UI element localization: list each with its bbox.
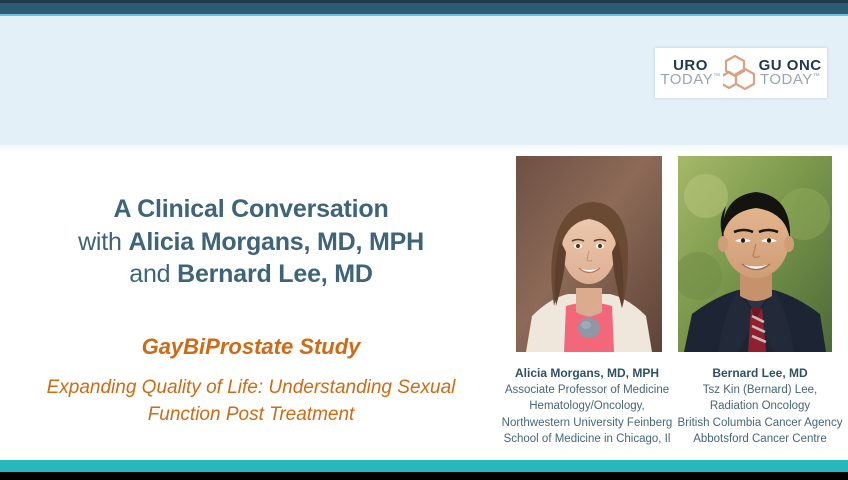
brand-logo-inner: URO TODAY™ GU ONC TODAY™ [660, 53, 821, 93]
speaker-affil-1-line-1: Associate Professor of Medicine [494, 382, 680, 398]
portrait-illustration-1 [516, 156, 662, 352]
logo-today-left-text: TODAY™ [660, 73, 720, 87]
speaker-caption-1: Alicia Morgans, MD, MPH Associate Profes… [494, 365, 680, 447]
title-line-2-prefix: with [78, 228, 128, 256]
bottom-black-bar [0, 472, 848, 480]
speaker-affil-2-line-2: Radiation Oncology [672, 398, 848, 414]
speaker-caption-2: Bernard Lee, MD Tsz Kin (Bernard) Lee, R… [672, 365, 848, 447]
title-line-1: A Clinical Conversation [8, 193, 494, 226]
logo-today-right-text: TODAY™ [760, 73, 820, 87]
speaker-affil-1-line-4: School of Medicine in Chicago, Il [494, 431, 680, 447]
speaker-photo-alicia-morgans [516, 156, 662, 352]
hexagon-icon [723, 53, 757, 93]
top-bar [0, 3, 848, 14]
study-title: GayBiProstate Study [8, 334, 494, 360]
slide-title: A Clinical Conversation with Alicia Morg… [8, 193, 494, 291]
trademark-left: ™ [713, 73, 721, 80]
logo-guonctoday: GU ONC TODAY™ [759, 59, 822, 87]
bottom-teal-bar [0, 460, 848, 472]
speaker-affil-2-line-4: Abbotsford Cancer Centre [672, 431, 848, 447]
speaker-affil-1-line-3: Northwestern University Feinberg [494, 415, 680, 431]
speaker-affil-2-line-3: British Columbia Cancer Agency [672, 415, 848, 431]
title-line-3: and Bernard Lee, MD [8, 258, 494, 291]
title-line-2: with Alicia Morgans, MD, MPH [8, 226, 494, 259]
study-subtitle: Expanding Quality of Life: Understanding… [8, 375, 494, 429]
title-line-3-name: Bernard Lee, MD [177, 260, 373, 288]
title-line-3-prefix: and [129, 260, 177, 288]
brand-logo: URO TODAY™ GU ONC TODAY™ [655, 48, 827, 98]
speaker-name-1: Alicia Morgans, MD, MPH [494, 365, 680, 382]
speaker-affil-1-line-2: Hematology/Oncology, [494, 398, 680, 414]
study-subtitle-line-1: Expanding Quality of Life: Understanding… [8, 375, 494, 402]
header-fade [0, 145, 848, 153]
video-slide: URO TODAY™ GU ONC TODAY™ A Clinical Conv… [0, 0, 848, 480]
portrait-illustration-2 [678, 156, 832, 352]
speaker-affil-2-line-1: Tsz Kin (Bernard) Lee, [672, 382, 848, 398]
logo-urotoday: URO TODAY™ [660, 59, 720, 87]
speaker-photo-bernard-lee [678, 156, 832, 352]
study-subtitle-line-2: Function Post Treatment [8, 402, 494, 429]
title-line-2-name: Alicia Morgans, MD, MPH [128, 228, 423, 256]
speaker-name-2: Bernard Lee, MD [672, 365, 848, 382]
trademark-right: ™ [813, 73, 821, 80]
